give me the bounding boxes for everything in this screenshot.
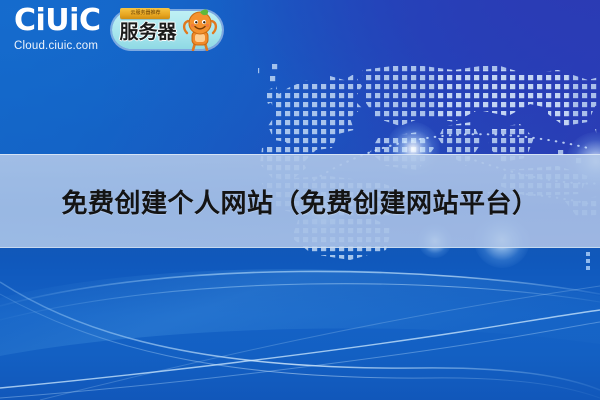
title-band: 免费创建个人网站（免费创建网站平台） xyxy=(0,154,600,248)
corner-dot-accent xyxy=(586,252,596,278)
page-title: 免费创建个人网站（免费创建网站平台） xyxy=(61,183,538,220)
header: CiUiC Cloud.ciuic.com 云服务器推荐 服务器 xyxy=(14,6,222,52)
server-badge[interactable]: 云服务器推荐 服务器 xyxy=(112,11,222,49)
logo-wordmark: CiUiC xyxy=(14,6,100,37)
wave-decoration xyxy=(0,240,600,400)
logo-domain: Cloud.ciuic.com xyxy=(14,41,98,53)
banner: 免费创建个人网站（免费创建网站平台） CiUiC Cloud.ciuic.com… xyxy=(0,0,600,400)
logo[interactable]: CiUiC Cloud.ciuic.com xyxy=(14,6,100,52)
orange-mascot-icon xyxy=(180,7,220,51)
badge-ribbon: 云服务器推荐 xyxy=(120,8,170,19)
badge-label: 服务器 xyxy=(119,17,176,44)
